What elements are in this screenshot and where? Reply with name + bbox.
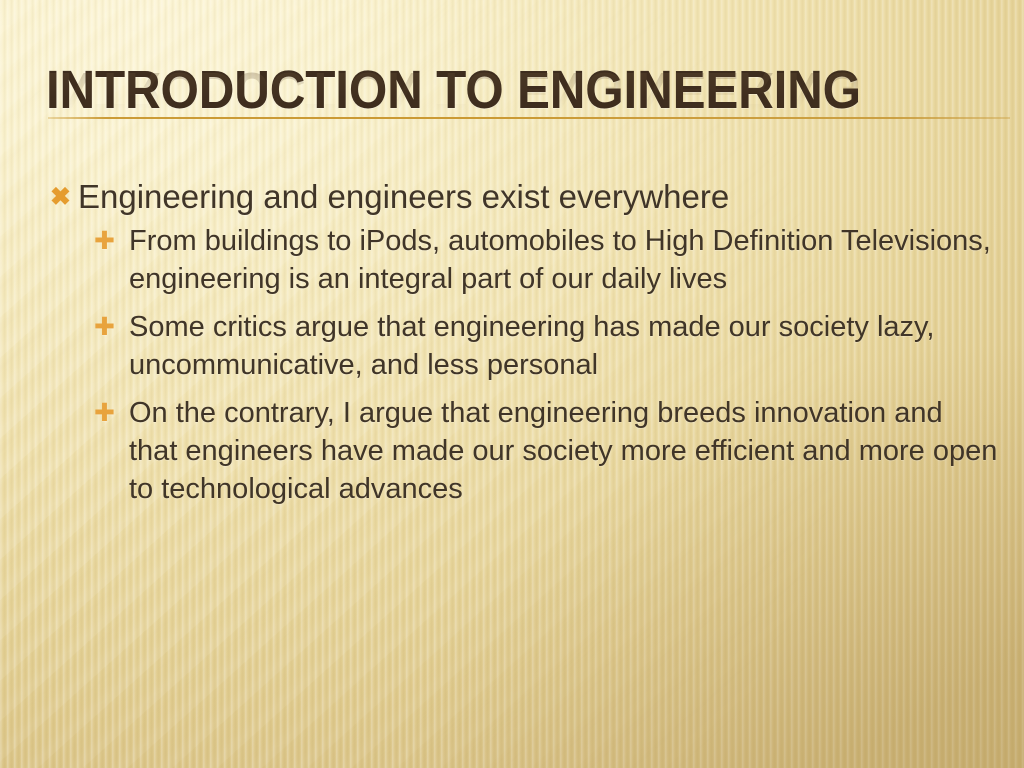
bullet-spacer (48, 300, 998, 308)
plus-bullet-icon: ✚ (94, 308, 120, 346)
slide-body: ✖ Engineering and engineers exist everyw… (48, 176, 998, 510)
bullet-level2: ✚ From buildings to iPods, automobiles t… (90, 222, 998, 298)
title-underline-rule (48, 117, 1010, 119)
bullet-level2: ✚ On the contrary, I argue that engineer… (90, 394, 998, 508)
plus-bullet-icon: ✚ (94, 394, 120, 432)
bullet-spacer (48, 386, 998, 394)
slide-title: INTRODUCTION TO ENGINEERING (46, 62, 924, 118)
bullet-level2-text: On the contrary, I argue that engineerin… (129, 394, 998, 508)
plus-bullet-icon: ✚ (94, 222, 120, 260)
slide-title-block: INTRODUCTION TO ENGINEERING INTRODUCTION… (46, 62, 1006, 162)
bullet-level2-text: Some critics argue that engineering has … (129, 308, 998, 384)
bullet-level1: ✖ Engineering and engineers exist everyw… (48, 176, 998, 218)
slide: INTRODUCTION TO ENGINEERING INTRODUCTION… (0, 0, 1024, 768)
bullet-level1-text: Engineering and engineers exist everywhe… (78, 178, 729, 215)
cross-bullet-icon: ✖ (50, 176, 74, 218)
bullet-level2-list: ✚ From buildings to iPods, automobiles t… (48, 222, 998, 508)
bullet-level2: ✚ Some critics argue that engineering ha… (90, 308, 998, 384)
bullet-level2-text: From buildings to iPods, automobiles to … (129, 222, 998, 298)
